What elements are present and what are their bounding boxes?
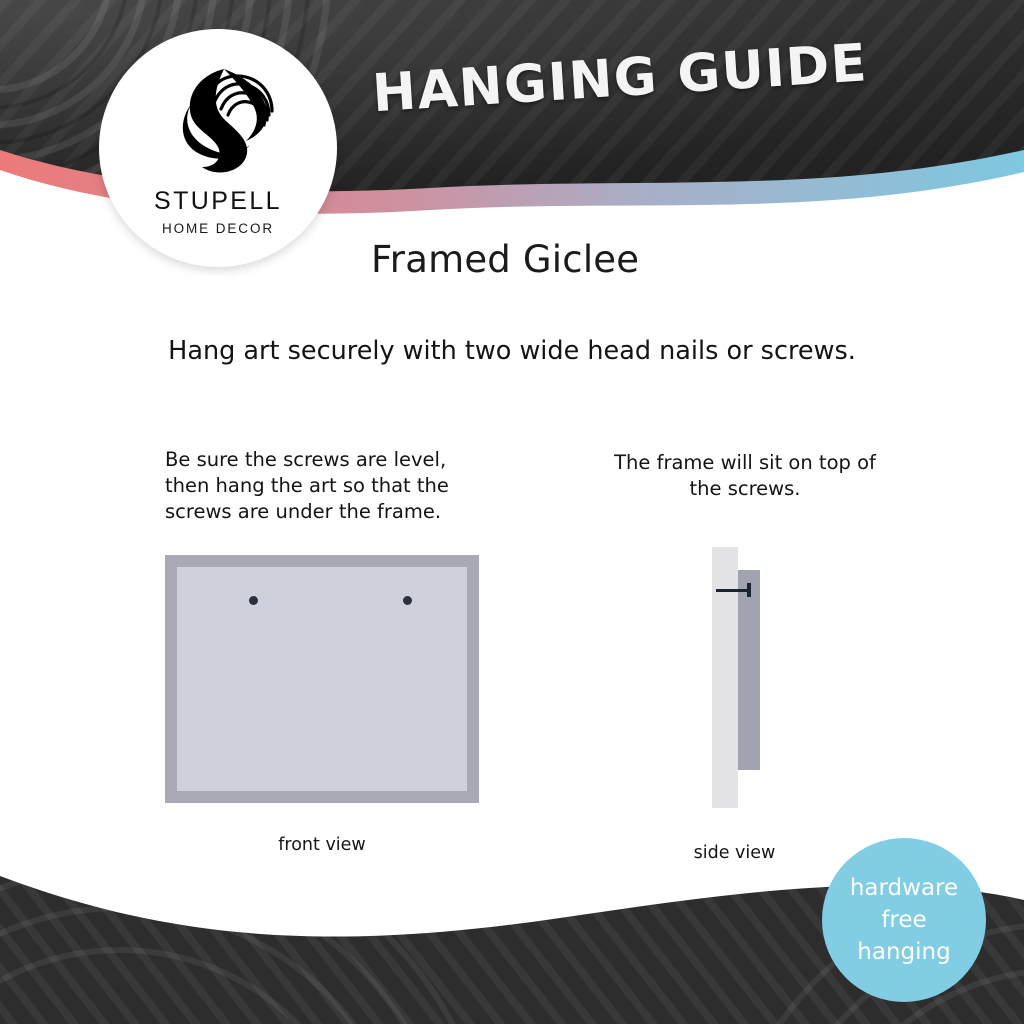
lead-instruction: Hang art securely with two wide head nai… — [0, 336, 1024, 366]
front-view-diagram — [165, 555, 479, 803]
front-view-label: front view — [165, 835, 479, 855]
badge-line-2: free — [881, 904, 926, 936]
screw-dot-left — [249, 596, 258, 605]
screw-dot-right — [403, 596, 412, 605]
hardware-free-hanging-badge: hardware free hanging — [822, 838, 986, 1002]
hanging-guide-page: HANGING GUIDE STUPELL HOME DECOR Framed … — [0, 0, 1024, 1024]
product-subtitle: Framed Giclee — [371, 238, 639, 281]
side-view-caption: The frame will sit on top of the screws. — [600, 450, 890, 502]
nail-side-icon-shaft — [716, 589, 750, 592]
nail-side-icon-head — [747, 583, 751, 597]
brand-logo-badge: STUPELL HOME DECOR — [99, 29, 337, 267]
front-view-caption: Be sure the screws are level, then hang … — [165, 447, 485, 525]
stupell-swoosh-icon — [154, 63, 282, 187]
badge-line-1: hardware — [850, 872, 958, 904]
badge-line-3: hanging — [857, 936, 950, 968]
side-view-wall — [712, 547, 738, 808]
side-view-frame — [738, 570, 760, 770]
brand-sub-wordmark: HOME DECOR — [99, 221, 337, 236]
front-view-artwork-area — [177, 567, 467, 791]
side-view-label: side view — [662, 843, 807, 863]
brand-wordmark: STUPELL — [99, 187, 337, 216]
page-title: HANGING GUIDE — [371, 32, 894, 125]
